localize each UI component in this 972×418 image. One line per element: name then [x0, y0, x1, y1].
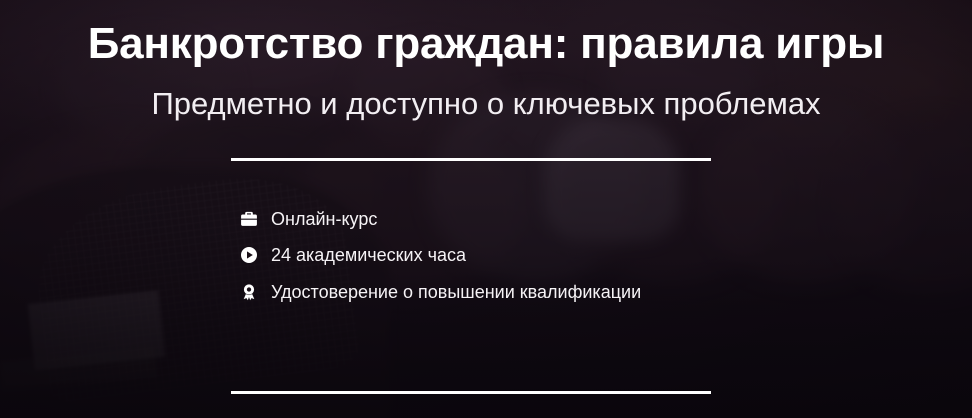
- award-icon: [238, 281, 260, 303]
- divider-bottom: [231, 391, 711, 394]
- feature-label: Удостоверение о повышении квалификации: [271, 279, 641, 306]
- page-subtitle: Предметно и доступно о ключевых проблема…: [0, 88, 972, 121]
- feature-label: Онлайн-курс: [271, 206, 377, 233]
- feature-item-duration: 24 академических часа: [238, 242, 708, 269]
- feature-list: Онлайн-курс 24 академических часа: [238, 206, 708, 306]
- page-title: Банкротство граждан: правила игры: [0, 22, 972, 67]
- feature-item-format: Онлайн-курс: [238, 206, 708, 233]
- divider-top: [231, 158, 711, 161]
- course-hero-banner: Банкротство граждан: правила игры Предме…: [0, 0, 972, 418]
- hero-content: Банкротство граждан: правила игры Предме…: [0, 0, 972, 418]
- briefcase-icon: [238, 208, 260, 230]
- feature-label: 24 академических часа: [271, 242, 466, 269]
- feature-item-certificate: Удостоверение о повышении квалификации: [238, 279, 708, 306]
- play-circle-icon: [238, 244, 260, 266]
